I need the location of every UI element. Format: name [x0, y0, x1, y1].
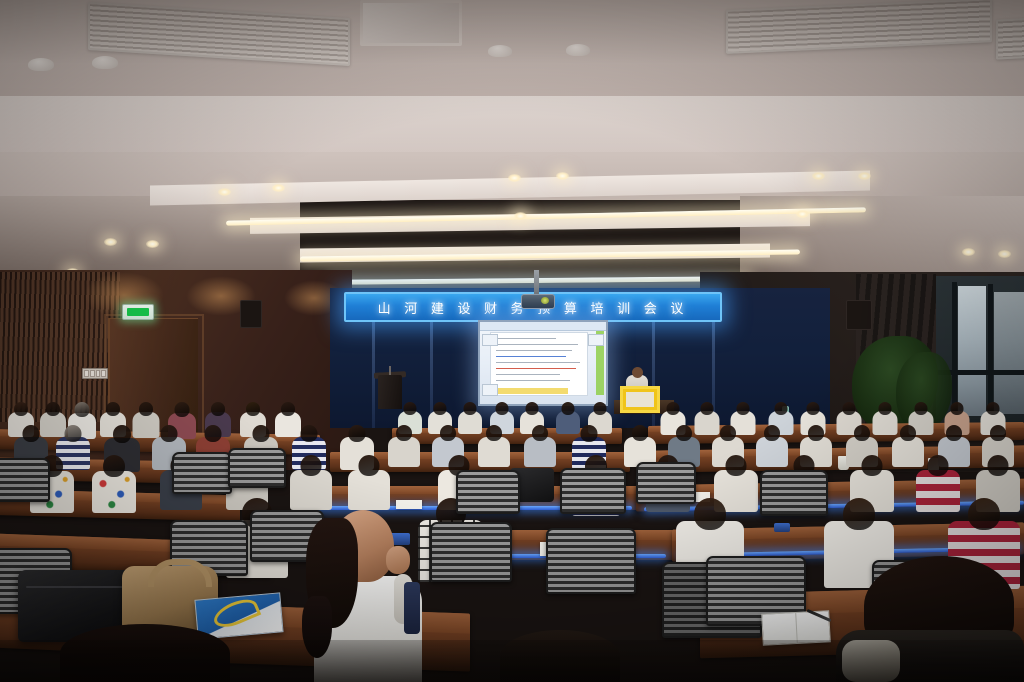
conference-chair[interactable] [172, 452, 232, 494]
slide-logo [482, 384, 498, 396]
audience-head [496, 402, 509, 415]
audience-head [161, 425, 178, 442]
audience-head [774, 402, 787, 415]
audience-head [486, 425, 502, 441]
audience-head [700, 402, 713, 415]
dome-speaker-icon [92, 56, 118, 69]
audience-member [524, 425, 556, 473]
audience-head [23, 425, 40, 442]
conference-chair[interactable] [456, 470, 520, 514]
audience-head [666, 402, 679, 415]
dome-speaker-icon [488, 45, 512, 57]
audience-head [632, 425, 648, 441]
slide-text-line [496, 338, 556, 339]
audience-head [75, 402, 90, 417]
conference-room-photo: 山 河 建 设 财 务 预 算 培 训 会 议 [0, 0, 1024, 682]
audience-head [359, 455, 380, 476]
audience-head [440, 425, 456, 441]
audience-head [862, 455, 883, 476]
light-switch-panel[interactable] [82, 368, 108, 379]
audience-head [301, 455, 322, 476]
conference-chair[interactable] [0, 458, 50, 502]
recessed-downlight [858, 172, 871, 180]
audience-head [349, 425, 366, 442]
audience-head [246, 402, 260, 416]
slide-text-line [496, 362, 580, 363]
audience-head [946, 425, 962, 441]
audience-member [92, 455, 136, 521]
audience-head [103, 455, 125, 477]
slide-logo [482, 334, 498, 346]
audience-head [532, 425, 548, 441]
audience-head [205, 425, 222, 442]
audience-head [14, 402, 28, 416]
recessed-downlight [796, 210, 809, 218]
window-pane [958, 286, 986, 416]
audience-head [843, 498, 875, 530]
audience-head [581, 425, 598, 442]
conference-chair[interactable] [228, 448, 286, 488]
dome-speaker-icon [28, 58, 54, 71]
projector-mount-pole [534, 270, 539, 296]
slide-text-line [496, 368, 576, 369]
audience-head [720, 425, 736, 441]
conference-chair[interactable] [560, 468, 626, 514]
floor-shadow [0, 640, 1024, 682]
window-mullion [952, 282, 957, 422]
audience-head [914, 402, 927, 415]
audience-torso [92, 471, 136, 513]
audience-head [65, 425, 82, 442]
smartphone[interactable] [774, 523, 790, 532]
audience-head [808, 425, 824, 441]
slide-toolbar [480, 322, 606, 331]
recessed-downlight [104, 238, 117, 246]
audience-head [986, 402, 999, 415]
recessed-downlight [962, 248, 975, 256]
audience-head [301, 425, 318, 442]
slide-text-line [496, 356, 566, 357]
audience-head [46, 402, 60, 416]
audience-head [764, 425, 780, 441]
audience-head [253, 425, 270, 442]
conference-chair[interactable] [636, 462, 696, 504]
projector-lens-icon [541, 297, 549, 304]
recessed-downlight [218, 188, 231, 196]
recessed-downlight [514, 212, 527, 220]
audience-member [388, 425, 420, 473]
audience-head [562, 402, 575, 415]
audience-head [988, 455, 1009, 476]
exit-sign-icon [122, 304, 154, 320]
microphone-icon [389, 366, 391, 375]
conference-chair[interactable] [546, 528, 636, 594]
recessed-downlight [998, 250, 1011, 258]
audience-head [806, 402, 819, 415]
audience-head [900, 425, 916, 441]
audience-head [396, 425, 412, 441]
audience-head [928, 455, 949, 476]
recessed-downlight [146, 240, 159, 248]
audience-head [113, 425, 131, 443]
conference-chair[interactable] [760, 470, 828, 516]
audience-head [404, 402, 417, 415]
wall-speaker-icon [846, 300, 872, 330]
recessed-downlight [508, 174, 521, 182]
projection-screen [478, 320, 608, 406]
acoustic-rib-panel [0, 272, 120, 422]
slide-document [490, 332, 588, 396]
audience-head [854, 425, 870, 441]
slide-highlight-bar [490, 388, 568, 394]
dome-speaker-icon [566, 44, 590, 56]
conference-chair[interactable] [430, 522, 512, 582]
audience-head [726, 455, 747, 476]
skylight-panel [360, 0, 462, 46]
audience-head [211, 402, 225, 416]
audience-torso [478, 437, 510, 467]
slide-text-line [496, 374, 560, 375]
audience-head [139, 402, 153, 416]
audience-head [106, 402, 120, 416]
hvac-vent-icon [996, 16, 1024, 59]
audience-head [950, 402, 963, 415]
audience-torso [524, 437, 556, 467]
audience-head [842, 402, 855, 415]
slide-text-line [496, 344, 578, 345]
audience-member [478, 425, 510, 473]
audience-head [878, 402, 891, 415]
slide-text-line [496, 380, 570, 381]
audience-head [736, 402, 749, 415]
ceiling-mid-plane [0, 96, 1024, 158]
wall-speaker-icon [240, 300, 262, 328]
audience-head [464, 402, 477, 415]
audience-head [526, 402, 539, 415]
audience-head [281, 402, 295, 416]
audience-head [968, 498, 1000, 530]
ceiling-projector [521, 294, 555, 309]
recessed-downlight [812, 172, 825, 180]
audience-head [990, 425, 1006, 441]
recessed-downlight [556, 172, 569, 180]
presenter-head [632, 367, 643, 378]
window-pane [994, 292, 1024, 414]
audience-head [434, 402, 447, 415]
recessed-downlight [272, 184, 285, 192]
slide-logo [588, 334, 604, 346]
audience-head [676, 425, 692, 441]
audience-head [594, 402, 607, 415]
yellow-placard [620, 386, 660, 413]
slide-text-line [496, 350, 572, 351]
audience-torso [388, 437, 420, 467]
audience-head [175, 402, 190, 417]
audience-head [694, 498, 726, 530]
